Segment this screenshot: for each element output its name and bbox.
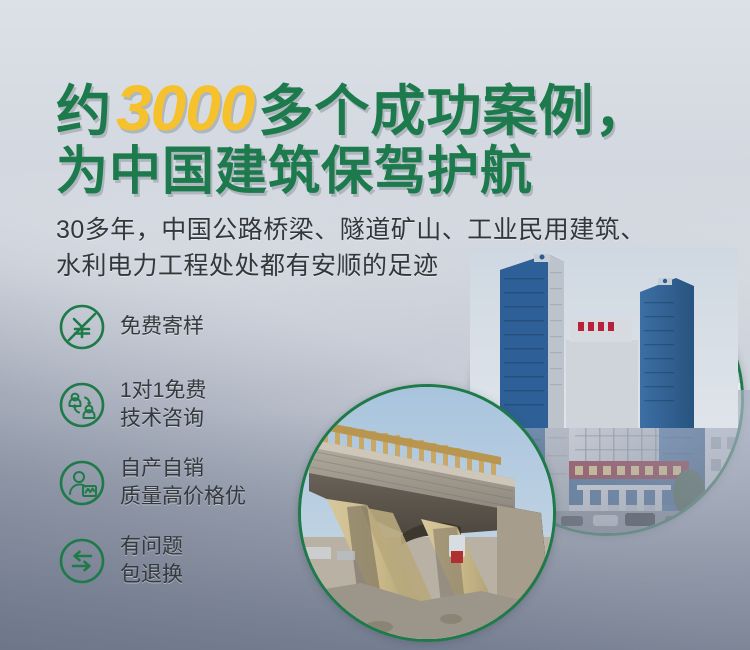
feature-line-2: 包退换 xyxy=(120,561,183,589)
self-production-sales-icon xyxy=(58,459,106,507)
headline-line-1: 约3000多个成功案例， xyxy=(56,76,696,142)
feature-label: 1对1免费 技术咨询 xyxy=(120,377,206,432)
subtitle-line-1: 30多年，中国公路桥梁、隧道矿山、工业民用建筑、 xyxy=(56,212,716,248)
feature-label: 自产自销 质量高价格优 xyxy=(120,455,246,510)
subtitle-line-2: 水利电力工程处处都有安顺的足迹 xyxy=(56,248,716,284)
headline-suffix: 多个成功案例， xyxy=(258,80,650,142)
headline: 约3000多个成功案例， 为中国建筑保驾护航 xyxy=(56,76,696,206)
headline-number: 3000 xyxy=(112,72,258,144)
bridge-photo xyxy=(298,384,556,642)
feature-item-free-sample[interactable]: 免费寄样 xyxy=(58,296,358,358)
promo-banner: 约3000多个成功案例， 为中国建筑保驾护航 30多年，中国公路桥梁、隧道矿山、… xyxy=(0,0,750,650)
no-fee-yuan-icon xyxy=(58,303,106,351)
feature-label: 免费寄样 xyxy=(120,313,204,341)
feature-item-consultation[interactable]: 1对1免费 技术咨询 xyxy=(58,374,358,436)
feature-line-1: 有问题 xyxy=(120,533,183,561)
return-exchange-icon xyxy=(58,537,106,585)
feature-line-1: 免费寄样 xyxy=(120,313,204,341)
feature-line-1: 自产自销 xyxy=(120,455,246,483)
headline-line-2: 为中国建筑保驾护航 xyxy=(56,146,696,206)
feature-line-2: 质量高价格优 xyxy=(120,483,246,511)
one-to-one-consult-icon xyxy=(58,381,106,429)
feature-line-1: 1对1免费 xyxy=(120,377,206,405)
headline-prefix: 约 xyxy=(56,80,112,142)
feature-line-2: 技术咨询 xyxy=(120,405,206,433)
subtitle: 30多年，中国公路桥梁、隧道矿山、工业民用建筑、 水利电力工程处处都有安顺的足迹 xyxy=(56,212,716,285)
feature-label: 有问题 包退换 xyxy=(120,533,183,588)
